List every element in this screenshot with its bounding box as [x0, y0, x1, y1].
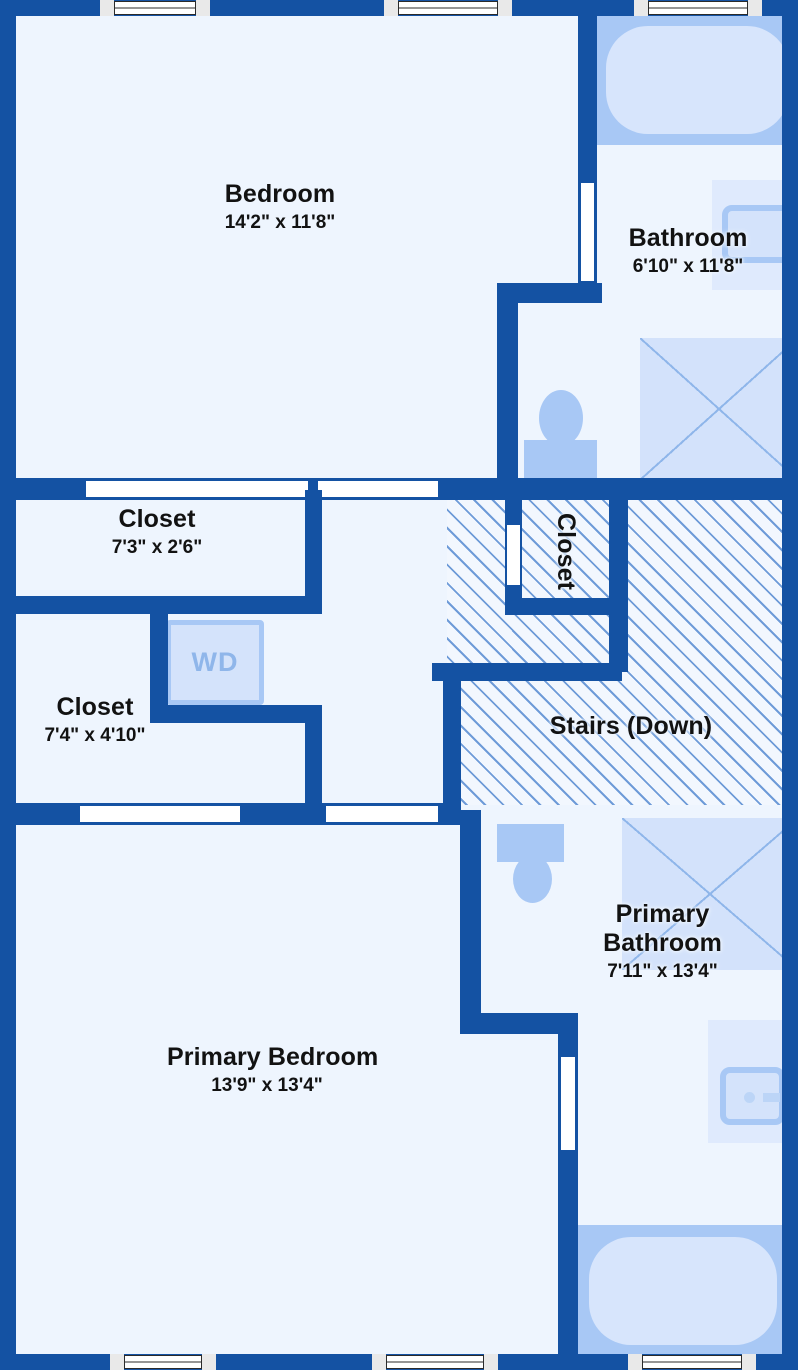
window-jamb [202, 1354, 216, 1370]
wall-center-closet-bottom [505, 598, 617, 615]
wall-closet-top-right-edge [305, 490, 322, 604]
bathtub-primary [575, 1225, 798, 1357]
wall-laundry-left [150, 604, 168, 714]
window-bottom-3[interactable] [642, 1355, 742, 1369]
doorway-bathroom-entry [581, 183, 594, 281]
bathtub-upper [597, 14, 798, 145]
shower-upper [640, 338, 798, 480]
sink-drain-primary [744, 1092, 755, 1103]
doorway-closet-top-right [318, 481, 438, 497]
bathtub-upper-basin [606, 26, 789, 134]
doorway-center-closet [507, 525, 520, 585]
wall-laundry-bottom [150, 705, 322, 723]
washer-dryer: WD [166, 620, 264, 705]
wall-stairs-left [443, 663, 461, 823]
window-jamb [748, 0, 762, 16]
wall-exterior-left [0, 0, 16, 1370]
window-top-3[interactable] [648, 1, 748, 15]
doorway-primary-bedroom-left [80, 806, 240, 822]
bathtub-primary-basin [589, 1237, 777, 1345]
wall-hall-right-upper [497, 283, 518, 483]
window-top-2[interactable] [398, 1, 498, 15]
stairs-hatch-upper [512, 612, 618, 668]
window-top-1[interactable] [114, 1, 196, 15]
wall-bath-hall-top [497, 283, 602, 303]
floor-plan: WD [0, 0, 798, 1370]
window-bottom-2[interactable] [386, 1355, 484, 1369]
room-floor-primary-bedroom [0, 810, 575, 1370]
window-jamb [634, 0, 648, 16]
room-floor-bedroom [0, 0, 580, 480]
window-jamb [100, 0, 114, 16]
doorway-primary-bathroom [561, 1057, 575, 1150]
window-jamb [384, 0, 398, 16]
wall-closet-left-right-edge [305, 705, 322, 810]
wall-center-closet-right [609, 490, 628, 672]
wall-stairs-top [497, 478, 798, 500]
window-jamb [484, 1354, 498, 1370]
shower-primary [622, 818, 798, 970]
wall-primary-bath-left-upper [460, 810, 481, 1032]
window-jamb [196, 0, 210, 16]
window-jamb [372, 1354, 386, 1370]
doorway-primary-bedroom-right [326, 806, 438, 822]
toilet-upper-tank [524, 440, 597, 480]
toilet-upper-bowl [539, 390, 583, 446]
sink-faucet-primary [763, 1093, 780, 1102]
window-jamb [628, 1354, 642, 1370]
window-jamb [110, 1354, 124, 1370]
window-jamb [742, 1354, 756, 1370]
toilet-primary-bowl [513, 855, 552, 903]
doorway-closet-top-left [86, 481, 308, 497]
window-bottom-1[interactable] [124, 1355, 202, 1369]
window-jamb [498, 0, 512, 16]
wall-exterior-right [782, 0, 798, 1370]
